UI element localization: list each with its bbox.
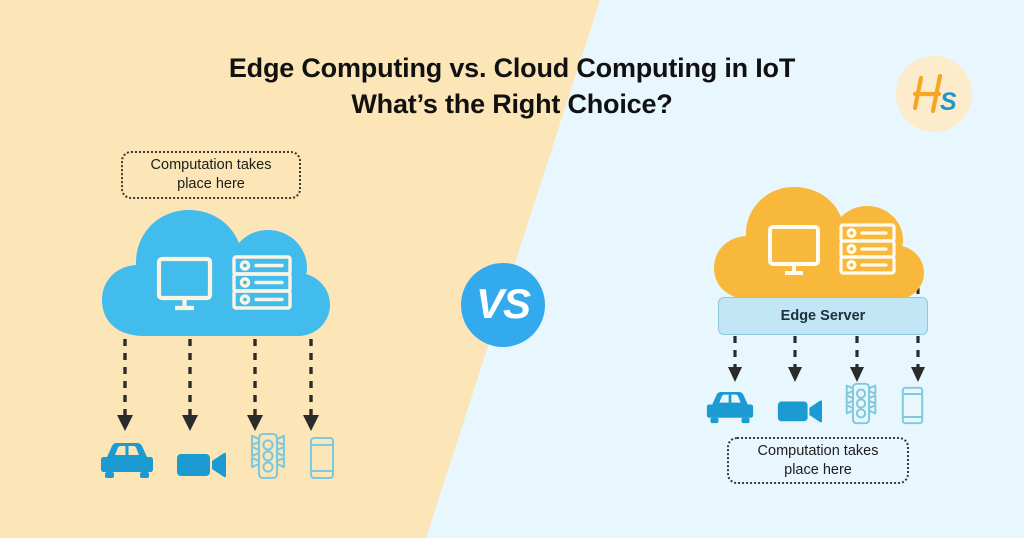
cloud-shape-blue [100,196,332,341]
callout-right-line-2: place here [784,462,852,478]
traffic-light-icon [844,382,878,425]
callout-left-computation: Computation takes place here [121,151,301,199]
video-camera-icon [176,448,226,480]
edge-server-bar[interactable]: Edge Server [718,297,928,335]
callout-right-line-1: Computation takes [758,443,879,459]
page-title-line-1: Edge Computing vs. Cloud Computing in Io… [0,50,1024,86]
arrowhead [911,367,925,382]
arrowhead [117,415,133,431]
car-icon [100,442,154,480]
arrowhead [303,415,319,431]
cloud-path [102,210,330,336]
arrowhead [728,367,742,382]
arrowhead [182,415,198,431]
arrowhead [247,415,263,431]
device-row-left [100,432,335,480]
arrowhead [850,367,864,382]
page-title-line-2: What’s the Right Choice? [0,86,1024,122]
device-row-right [706,382,924,425]
video-camera-icon [777,396,822,425]
connectors-left [95,325,345,445]
server-rack-icon [234,257,290,308]
vs-label: VS [476,283,530,325]
logo-letter-s: S [940,88,957,116]
callout-right-computation: Computation takes place here [727,437,909,484]
smartphone-icon [901,386,924,425]
car-icon [706,391,754,425]
infographic-canvas: Edge Computing vs. Cloud Computing in Io… [0,0,1024,538]
callout-left-line-2: place here [177,176,245,192]
vs-badge: VS [461,263,545,347]
traffic-light-icon [249,432,287,480]
callout-left-line-1: Computation takes [151,157,272,173]
server-rack-icon [841,225,894,273]
hs-monogram-logo[interactable]: S [896,56,972,132]
logo-letter-h [915,76,940,111]
arrowhead [788,367,802,382]
cloud-shape-orange [712,178,934,304]
smartphone-icon [309,436,335,480]
edge-server-label: Edge Server [781,308,866,324]
page-title: Edge Computing vs. Cloud Computing in Io… [0,50,1024,122]
